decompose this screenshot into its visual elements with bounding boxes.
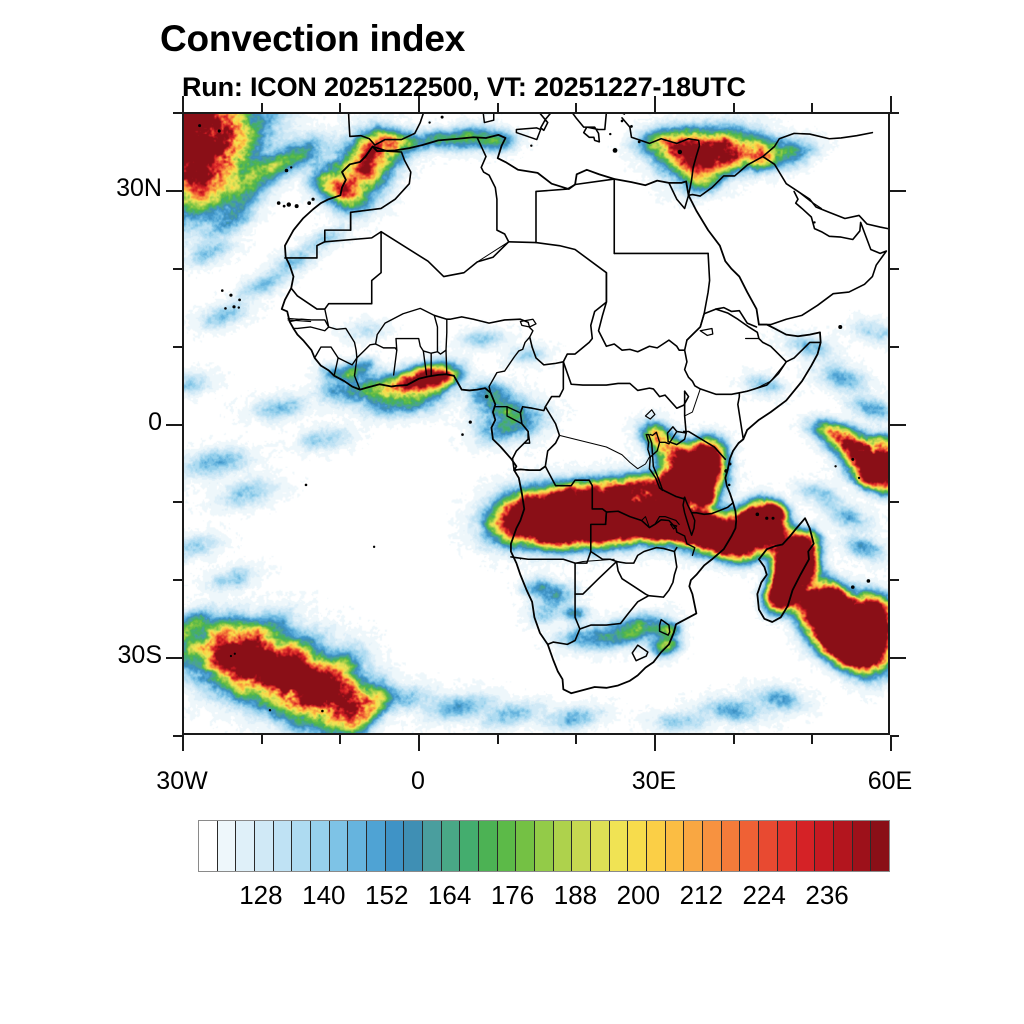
colorbar-cell-16	[498, 821, 517, 871]
colorbar-cell-30	[759, 821, 778, 871]
colorbar-tick-labels: 128140152164176188200212224236	[198, 880, 890, 916]
y-tick-10	[173, 346, 182, 348]
colorbar-cell-5	[292, 821, 311, 871]
colorbar-cell-28	[722, 821, 741, 871]
page-subtitle: Run: ICON 2025122500, VT: 20251227-18UTC	[182, 72, 746, 103]
x-tick-top--10	[339, 103, 341, 112]
x-axis-label-30W: 30W	[112, 767, 252, 796]
y-tick-right-10	[890, 346, 899, 348]
x-tick-30	[654, 735, 656, 751]
colorbar-cell-33	[815, 821, 834, 871]
x-tick-0	[418, 735, 420, 751]
y-tick-0	[166, 424, 182, 426]
x-axis-label-30E: 30E	[584, 767, 724, 796]
colorbar-cell-7	[330, 821, 349, 871]
colorbar-cell-10	[386, 821, 405, 871]
x-tick-top-50	[811, 103, 813, 112]
x-tick-50	[811, 735, 813, 744]
y-tick-20	[173, 268, 182, 270]
x-tick-top-60	[890, 96, 892, 112]
colorbar-label-128: 128	[239, 880, 282, 911]
colorbar-cell-21	[591, 821, 610, 871]
colorbar-cell-17	[516, 821, 535, 871]
colorbar-cell-4	[274, 821, 293, 871]
colorbar-label-188: 188	[554, 880, 597, 911]
colorbar-cell-18	[535, 821, 554, 871]
colorbar-cell-2	[236, 821, 255, 871]
y-axis-label-30N: 30N	[52, 174, 162, 203]
x-tick-top-30	[654, 96, 656, 112]
colorbar-cell-29	[740, 821, 759, 871]
colorbar-cell-27	[703, 821, 722, 871]
colorbar-cell-35	[853, 821, 872, 871]
colorbar-cell-14	[460, 821, 479, 871]
y-tick-right-40	[890, 112, 899, 114]
x-axis-label-0: 0	[348, 767, 488, 796]
page-title: Convection index	[160, 18, 465, 60]
colorbar-cell-36	[871, 821, 889, 871]
y-axis-label-0: 0	[52, 408, 162, 437]
x-tick-top-20	[575, 103, 577, 112]
x-tick-60	[890, 735, 892, 751]
colorbar-label-164: 164	[428, 880, 471, 911]
colorbar-label-212: 212	[680, 880, 723, 911]
y-tick-40	[173, 112, 182, 114]
x-tick-20	[575, 735, 577, 744]
colorbar-cell-13	[442, 821, 461, 871]
colorbar-cell-32	[797, 821, 816, 871]
colorbar-cell-24	[647, 821, 666, 871]
y-tick--30	[166, 657, 182, 659]
y-tick--10	[173, 501, 182, 503]
x-tick-top--30	[182, 96, 184, 112]
x-tick-top-0	[418, 96, 420, 112]
colorbar-label-236: 236	[805, 880, 848, 911]
y-tick-right-20	[890, 268, 899, 270]
y-tick-right-0	[890, 424, 906, 426]
y-tick--20	[173, 579, 182, 581]
x-axis-label-60E: 60E	[820, 767, 960, 796]
colorbar-cell-1	[218, 821, 237, 871]
colorbar-label-176: 176	[491, 880, 534, 911]
x-tick-40	[733, 735, 735, 744]
colorbar-cell-31	[778, 821, 797, 871]
y-tick--40	[173, 735, 182, 737]
map-panel[interactable]	[182, 112, 890, 735]
colorbar-cell-9	[367, 821, 386, 871]
colorbar-cell-8	[348, 821, 367, 871]
colorbar-label-200: 200	[617, 880, 660, 911]
x-tick-top-10	[497, 103, 499, 112]
colorbar-cell-23	[628, 821, 647, 871]
x-tick-top--20	[261, 103, 263, 112]
x-tick--20	[261, 735, 263, 744]
colorbar-cell-15	[479, 821, 498, 871]
colorbar-label-140: 140	[302, 880, 345, 911]
colorbar-cell-26	[684, 821, 703, 871]
country-borders-overlay	[184, 114, 888, 733]
y-tick-right--30	[890, 657, 906, 659]
colorbar-cell-12	[423, 821, 442, 871]
x-tick-10	[497, 735, 499, 744]
colorbar-cell-11	[404, 821, 423, 871]
colorbar-cell-22	[610, 821, 629, 871]
colorbar-cell-20	[572, 821, 591, 871]
colorbar-cell-3	[255, 821, 274, 871]
y-tick-30	[166, 190, 182, 192]
x-tick--30	[182, 735, 184, 751]
x-tick--10	[339, 735, 341, 744]
colorbar-cell-0	[199, 821, 218, 871]
y-tick-right--20	[890, 579, 899, 581]
colorbar[interactable]	[198, 820, 890, 872]
x-tick-top-40	[733, 103, 735, 112]
colorbar-label-224: 224	[742, 880, 785, 911]
colorbar-label-152: 152	[365, 880, 408, 911]
colorbar-cell-6	[311, 821, 330, 871]
y-tick-right--10	[890, 501, 899, 503]
colorbar-cell-25	[666, 821, 685, 871]
y-axis-label-30S: 30S	[52, 641, 162, 670]
colorbar-cell-34	[834, 821, 853, 871]
y-tick-right--40	[890, 735, 899, 737]
colorbar-cell-19	[554, 821, 573, 871]
y-tick-right-30	[890, 190, 906, 192]
